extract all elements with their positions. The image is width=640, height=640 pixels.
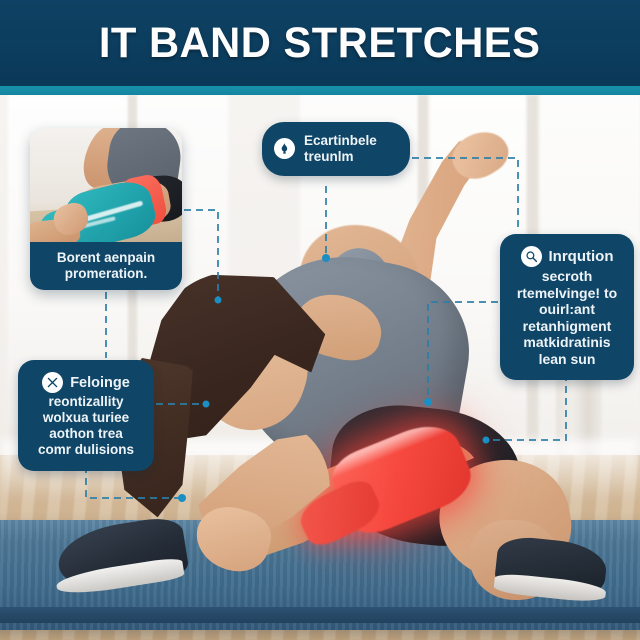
callout-right-line-6: matkidratinis	[508, 334, 626, 351]
callout-right-box[interactable]: Inrqution secroth rtemelvinge! to ouirl:…	[500, 234, 634, 380]
callout-left-line-2: reontizallity	[26, 394, 146, 410]
photo-card-caption-line-2: promeration.	[65, 266, 148, 282]
callout-top-pill-text: Ecartinbele treunlm	[304, 133, 377, 165]
header-banner: IT BAND STRETCHES	[0, 0, 640, 86]
photo-card-image	[30, 128, 182, 244]
accent-stripe	[0, 86, 640, 95]
callout-top-pill-line-2: treunlm	[304, 149, 354, 164]
cross-circle-icon	[42, 372, 63, 393]
callout-right-line-7: lean sun	[508, 351, 626, 368]
callout-left-header: Feloinge	[26, 372, 146, 393]
callout-right-header: Inrqution	[508, 246, 626, 267]
callout-left-line-4: aothon trea	[26, 426, 146, 442]
callout-right-line-4: ouirl:ant	[508, 301, 626, 318]
page-title: IT BAND STRETCHES	[99, 19, 541, 68]
knee-support-photo-card[interactable]: Borent aenpain promeration.	[30, 128, 182, 290]
callout-left-line-3: wolxua turiee	[26, 410, 146, 426]
callout-right-line-2: secroth	[508, 268, 626, 285]
callout-right-line-5: retanhigment	[508, 318, 626, 335]
callout-top-pill[interactable]: Ecartinbele treunlm	[262, 122, 410, 176]
photo-card-caption: Borent aenpain promeration.	[30, 242, 182, 290]
callout-top-pill-line-1: Ecartinbele	[304, 133, 377, 148]
callout-right-line-3: rtemelvinge! to	[508, 285, 626, 302]
magnifier-icon	[521, 246, 542, 267]
photo-card-caption-line-1: Borent aenpain	[57, 250, 155, 266]
callout-left-line-5: comr dulisions	[26, 442, 146, 458]
callout-left-box[interactable]: Feloinge reontizallity wolxua turiee aot…	[18, 360, 154, 471]
callout-right-line-1: Inrqution	[549, 248, 614, 265]
kettle-icon	[274, 138, 295, 159]
poster-canvas: IT BAND STRETCHES Borent aenpain promera…	[0, 0, 640, 640]
callout-left-line-1: Feloinge	[70, 375, 130, 391]
